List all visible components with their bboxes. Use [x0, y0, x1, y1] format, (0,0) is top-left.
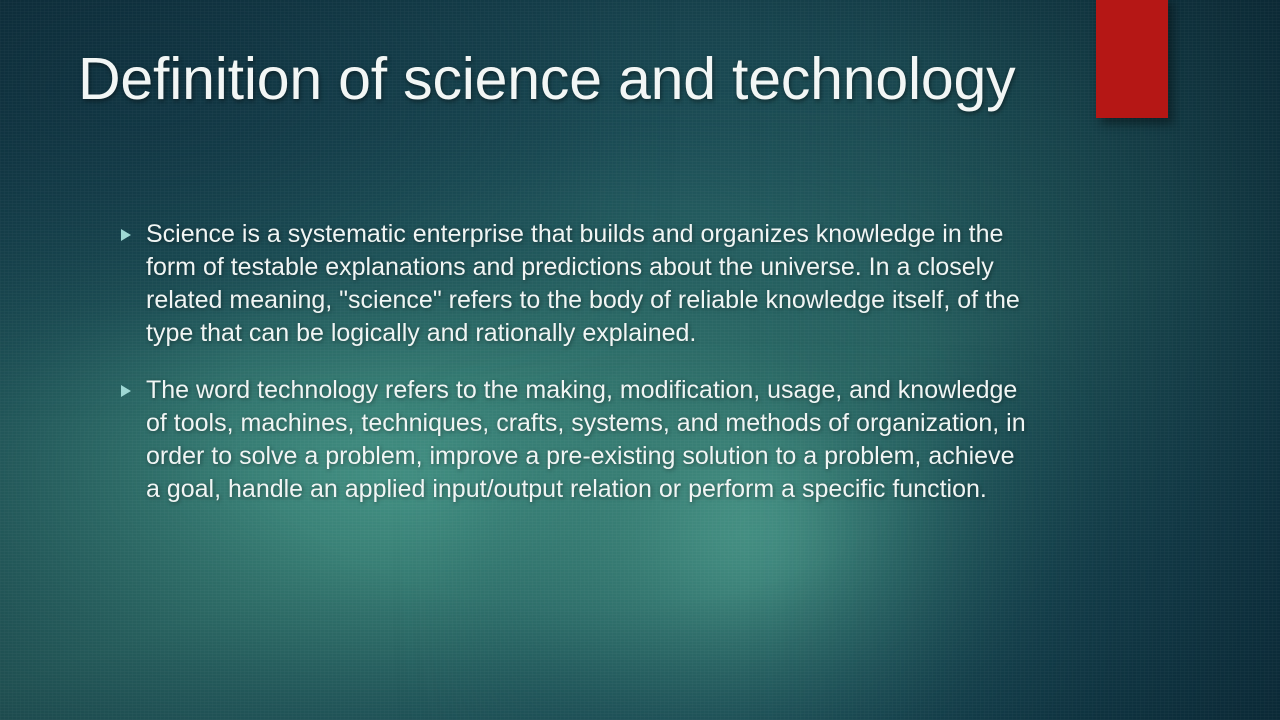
- presentation-slide: Definition of science and technology Sci…: [0, 0, 1280, 720]
- triangle-right-icon: [118, 218, 146, 243]
- triangle-right-icon: [118, 374, 146, 399]
- slide-content: Definition of science and technology Sci…: [0, 0, 1280, 720]
- list-item: The word technology refers to the making…: [118, 374, 1048, 506]
- bullet-text: The word technology refers to the making…: [146, 374, 1026, 506]
- slide-title: Definition of science and technology: [78, 48, 1078, 110]
- list-item: Science is a systematic enterprise that …: [118, 218, 1048, 350]
- bullet-list: Science is a systematic enterprise that …: [118, 218, 1048, 530]
- bullet-text: Science is a systematic enterprise that …: [146, 218, 1026, 350]
